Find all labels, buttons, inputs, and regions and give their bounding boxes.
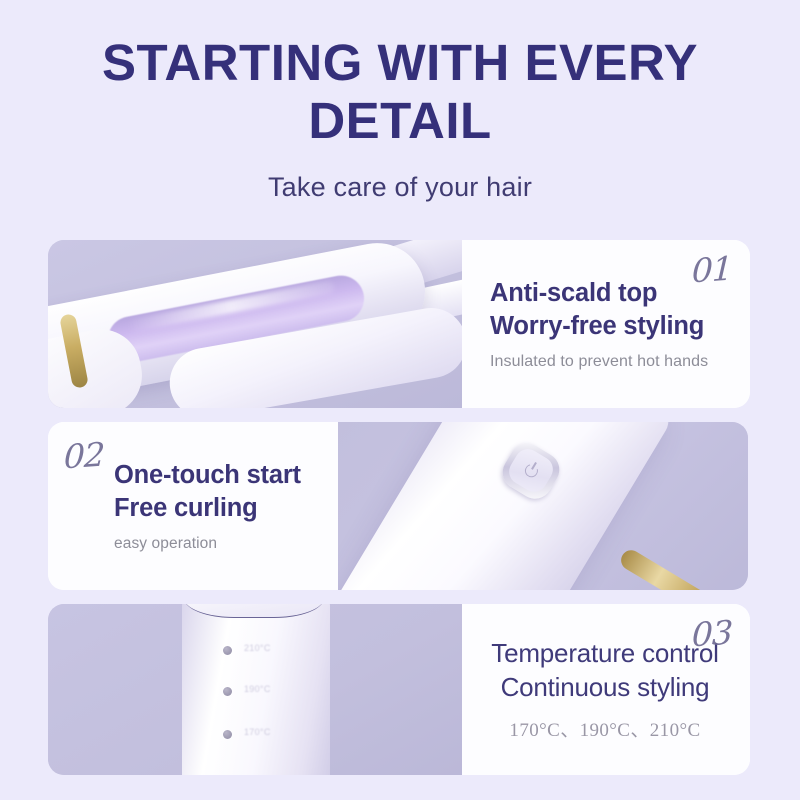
feature-caption-2: easy operation xyxy=(114,535,314,553)
feature-caption-3: 170°C、190°C、210°C xyxy=(491,715,718,742)
feature-title-line-2: Worry-free styling xyxy=(490,310,726,342)
feature-title-2: One-touch start Free curling xyxy=(114,459,314,524)
page-subtitle: Take care of your hair xyxy=(0,172,800,203)
feature-card-3[interactable]: 210°C 190°C 170°C 03 Temperature control… xyxy=(48,604,750,775)
feature-text-panel-3: 03 Temperature control Continuous stylin… xyxy=(462,604,750,775)
led-indicator-3 xyxy=(223,730,232,739)
feature-text-block-3: Temperature control Continuous styling 1… xyxy=(491,637,718,741)
feature-title-3: Temperature control Continuous styling xyxy=(491,637,718,703)
step-numeral-02: 02 xyxy=(63,435,105,477)
feature-title-line-1: One-touch start xyxy=(114,459,314,491)
product-photo-handle-button xyxy=(338,422,748,590)
feature-text-panel-1: 01 Anti-scald top Worry-free styling Ins… xyxy=(462,240,750,408)
step-numeral-01: 01 xyxy=(691,249,733,291)
page-title: STARTING WITH EVERY DETAIL xyxy=(0,34,800,150)
feature-title-line-2: Free curling xyxy=(114,492,314,524)
led-indicator-2 xyxy=(223,687,232,696)
led-label-2: 190°C xyxy=(244,684,271,694)
led-label-3: 170°C xyxy=(244,727,271,737)
feature-text-block-2: One-touch start Free curling easy operat… xyxy=(114,459,314,553)
power-icon xyxy=(522,462,540,480)
feature-title-line-1: Temperature control xyxy=(491,637,718,670)
feature-text-panel-2: 02 One-touch start Free curling easy ope… xyxy=(48,422,338,590)
feature-title-line-2: Continuous styling xyxy=(491,671,718,704)
led-indicator-1 xyxy=(223,646,232,655)
feature-card-2[interactable]: 02 One-touch start Free curling easy ope… xyxy=(48,422,748,590)
product-photo-curler-open xyxy=(48,240,462,408)
feature-card-1[interactable]: 01 Anti-scald top Worry-free styling Ins… xyxy=(48,240,750,408)
page-header: STARTING WITH EVERY DETAIL Take care of … xyxy=(0,0,800,203)
feature-text-block-1: Anti-scald top Worry-free styling Insula… xyxy=(490,277,726,371)
product-photo-led-indicators: 210°C 190°C 170°C xyxy=(48,604,462,775)
step-numeral-03: 03 xyxy=(691,613,733,655)
led-label-1: 210°C xyxy=(244,643,271,653)
feature-caption-1: Insulated to prevent hot hands xyxy=(490,353,726,371)
